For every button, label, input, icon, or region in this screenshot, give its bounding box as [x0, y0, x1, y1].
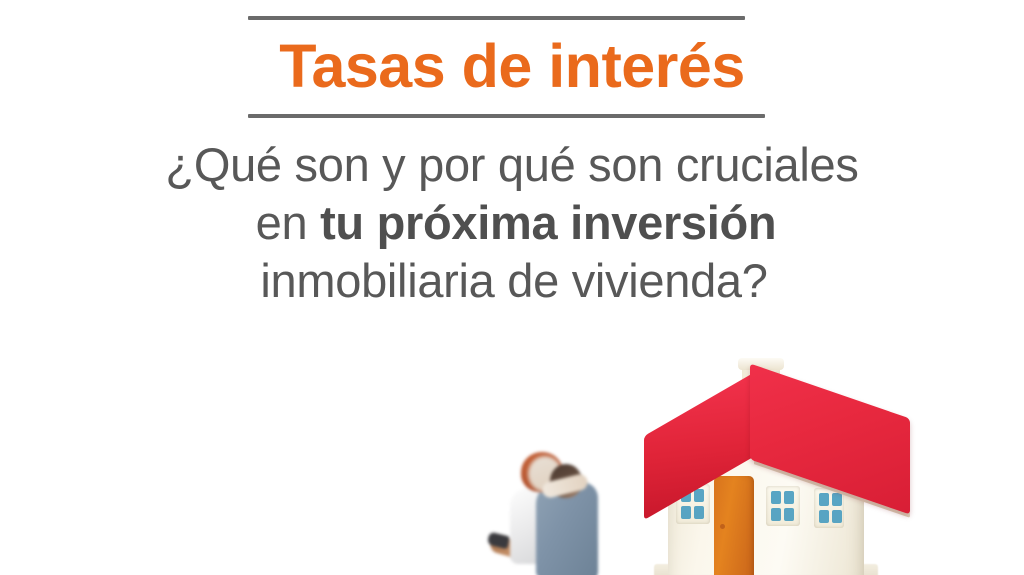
window-pane [819, 510, 829, 523]
window-pane [771, 491, 781, 504]
poster-canvas: Tasas de interés ¿Qué son y por qué son … [0, 0, 1024, 575]
house-window-center [766, 486, 800, 526]
window-pane [694, 489, 704, 502]
window-pane [694, 506, 704, 519]
page-title: Tasas de interés [0, 30, 1024, 102]
subtitle-line-2-prefix: en [256, 196, 320, 249]
house-door-knob [720, 524, 725, 529]
subtitle-line-3: inmobiliaria de vivienda? [4, 252, 1024, 310]
window-pane [784, 491, 794, 504]
window-pane [784, 508, 794, 521]
embracing-couple-figurine [488, 448, 636, 575]
subtitle-line-1: ¿Qué son y por qué son cruciales [0, 136, 1024, 194]
subtitle-line-2-emphasis: tu próxima inversión [320, 196, 776, 249]
photo-area [430, 330, 1024, 575]
subtitle-block: ¿Qué son y por qué son cruciales en tu p… [0, 136, 1024, 310]
title-top-divider [248, 16, 745, 20]
window-pane [832, 510, 842, 523]
house-window-right [814, 488, 844, 528]
window-pane [832, 493, 842, 506]
subtitle-line-2: en tu próxima inversión [8, 194, 1024, 252]
title-block: Tasas de interés [0, 0, 1024, 125]
window-pane [819, 493, 829, 506]
window-pane [681, 506, 691, 519]
window-pane [771, 508, 781, 521]
title-bottom-divider [248, 114, 765, 118]
miniature-ceramic-house [630, 358, 910, 575]
